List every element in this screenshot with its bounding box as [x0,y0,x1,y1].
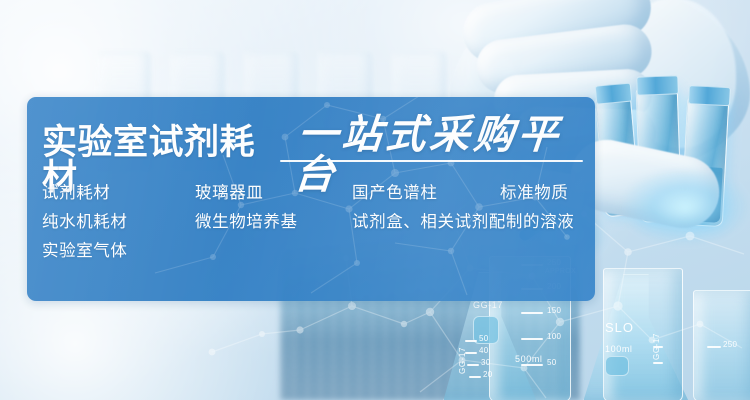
headline-panel: 实验室试剂耗材 一站式采购平台 试剂耗材 玻璃器皿 国产色谱柱 标准物质 纯水机… [27,97,595,301]
category-item[interactable]: 微生物培养基 [195,208,298,237]
category-row: 试剂耗材 玻璃器皿 国产色谱柱 标准物质 [42,179,590,208]
category-item[interactable]: 玻璃器皿 [195,179,263,208]
category-item[interactable]: 试剂盒、相关试剂配制的溶液 [352,208,574,237]
category-item[interactable]: 国产色谱柱 [352,179,438,208]
promo-banner: 250 APPROX 200 150 100 50 GG-17 500ml 50… [0,0,750,400]
category-row: 纯水机耗材 微生物培养基 试剂盒、相关试剂配制的溶液 [42,208,590,237]
category-item[interactable]: 标准物质 [500,179,568,208]
category-item[interactable]: 试剂耗材 [42,179,110,208]
category-row: 实验室气体 [42,237,590,266]
category-item[interactable]: 实验室气体 [42,237,128,266]
category-list: 试剂耗材 玻璃器皿 国产色谱柱 标准物质 纯水机耗材 微生物培养基 试剂盒、相关… [42,179,590,266]
category-item[interactable]: 纯水机耗材 [42,208,128,237]
